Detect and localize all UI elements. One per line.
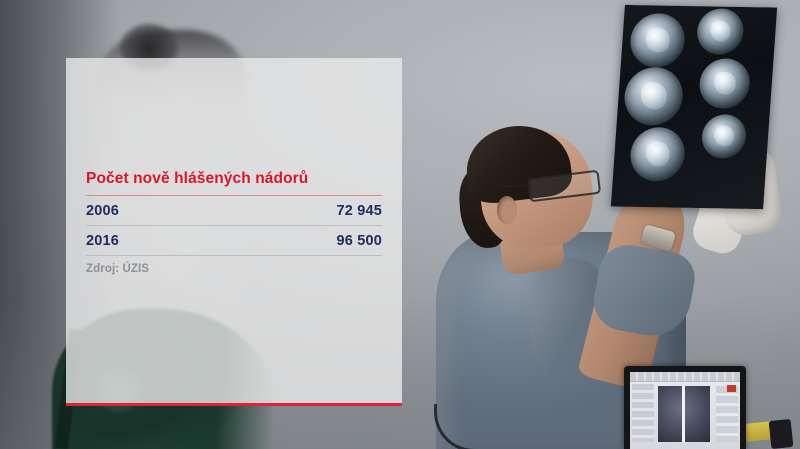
ct-slice: [700, 114, 747, 159]
doctor-ear: [497, 196, 517, 224]
statistics-card-content: Počet nově hlášených nádorů 2006 72 945 …: [86, 170, 382, 275]
source-label: Zdroj: ÚZIS: [86, 256, 382, 275]
statistics-card: Počet nově hlášených nádorů 2006 72 945 …: [66, 58, 402, 405]
table-row: 2016 96 500: [86, 226, 382, 255]
desk-object-black: [769, 419, 794, 449]
monitor-cable: [434, 404, 557, 449]
row-value-label: 72 945: [336, 203, 382, 219]
ct-slice: [629, 127, 687, 182]
medical-workstation-monitor-icon: [624, 366, 746, 449]
ct-slice: [698, 58, 752, 109]
infographic-screenshot: Počet nově hlášených nádorů 2006 72 945 …: [0, 0, 800, 449]
monitor-toolbar: [630, 372, 740, 382]
row-value-label: 96 500: [336, 233, 382, 249]
table-row: 2006 72 945: [86, 196, 382, 225]
page-title: Počet nově hlášených nádorů: [86, 170, 382, 188]
monitor-left-panel: [632, 384, 654, 442]
monitor-right-panel: [716, 386, 738, 442]
ct-slice: [623, 67, 685, 126]
monitor-red-indicator: [727, 385, 736, 392]
row-year-label: 2006: [86, 203, 119, 219]
ct-slice: [696, 8, 745, 55]
row-year-label: 2016: [86, 233, 119, 249]
monitor-scan-image: [658, 386, 710, 442]
monitor-screen: [630, 372, 740, 449]
ct-slice: [629, 13, 687, 68]
ct-scan-film-icon: [611, 5, 777, 209]
card-accent-bar: [66, 403, 402, 406]
